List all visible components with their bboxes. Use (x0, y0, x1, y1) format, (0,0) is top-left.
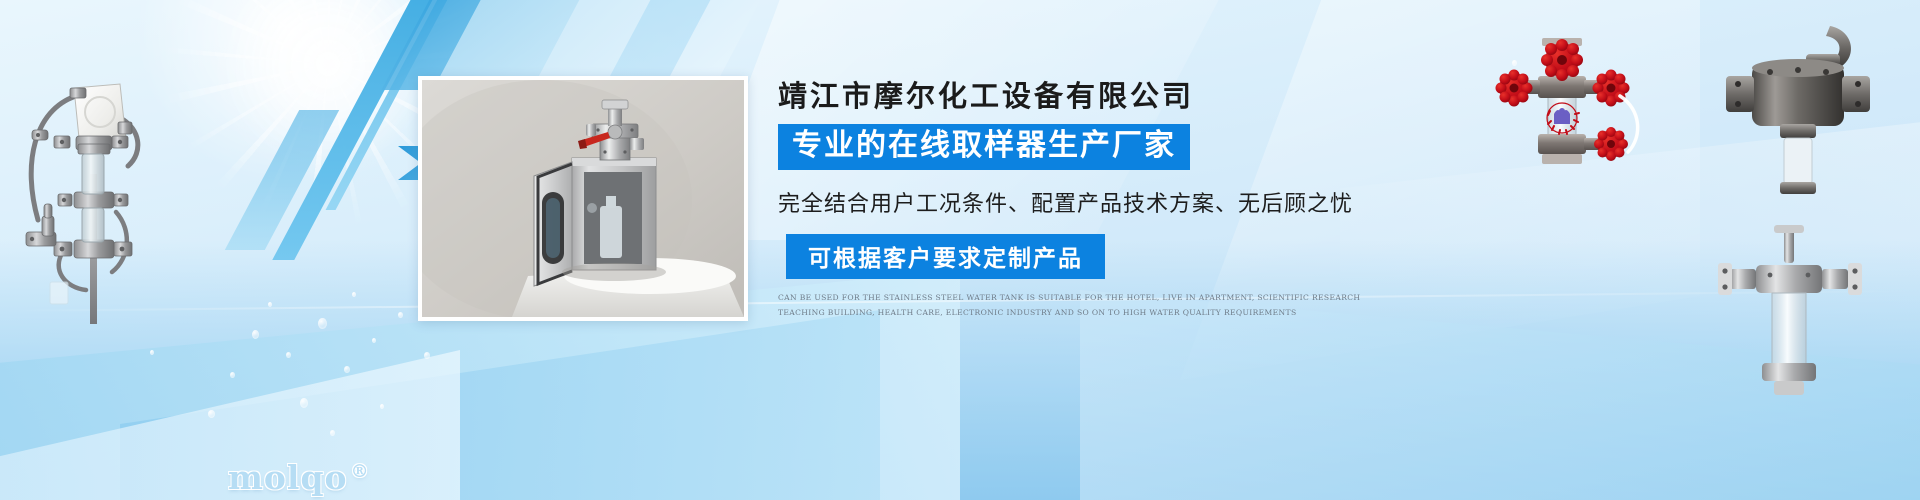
center-product-photo (418, 76, 748, 321)
left-product-image (8, 44, 188, 324)
water-droplet (230, 372, 235, 378)
registered-mark-icon: ® (351, 461, 370, 482)
english-description: CAN BE USED FOR THE STAINLESS STEEL WATE… (778, 291, 1383, 321)
water-droplet (150, 350, 154, 355)
water-droplet (330, 430, 335, 436)
water-droplet (344, 366, 350, 373)
right-valve-image (1700, 20, 1900, 200)
subline-text: 完全结合用户工况条件、配置产品技术方案、无后顾之忧 (778, 186, 1398, 218)
watermark-text: molqo (228, 458, 348, 497)
water-droplet (352, 292, 356, 297)
water-droplet (208, 410, 215, 418)
cta-text: 可根据客户要求定制产品 (808, 245, 1083, 271)
water-droplet (372, 338, 376, 343)
right-lower-valve-image (1700, 225, 1880, 405)
diagonal-band (225, 110, 339, 250)
water-droplet (424, 352, 430, 359)
right-cross-valve-image (1480, 26, 1680, 156)
water-droplet (268, 302, 272, 307)
water-droplet (252, 330, 259, 339)
headline-badge: 专业的在线取样器生产厂家 (778, 124, 1190, 170)
watermark-logo: molqo® (228, 458, 370, 497)
water-droplet (300, 398, 308, 408)
company-name: 靖江市摩尔化工设备有限公司 (778, 78, 1398, 114)
water-droplet (380, 404, 384, 409)
water-droplet (318, 318, 327, 329)
cta-badge[interactable]: 可根据客户要求定制产品 (786, 234, 1105, 279)
photo-content (422, 80, 744, 317)
diagonal-band (438, 0, 782, 80)
water-droplet (398, 312, 403, 318)
promo-banner: 靖江市摩尔化工设备有限公司 专业的在线取样器生产厂家 完全结合用户工况条件、配置… (0, 0, 1920, 500)
water-droplet (286, 352, 291, 358)
headline-text: 专业的在线取样器生产厂家 (792, 129, 1176, 162)
banner-text-block: 靖江市摩尔化工设备有限公司 专业的在线取样器生产厂家 完全结合用户工况条件、配置… (778, 78, 1398, 320)
